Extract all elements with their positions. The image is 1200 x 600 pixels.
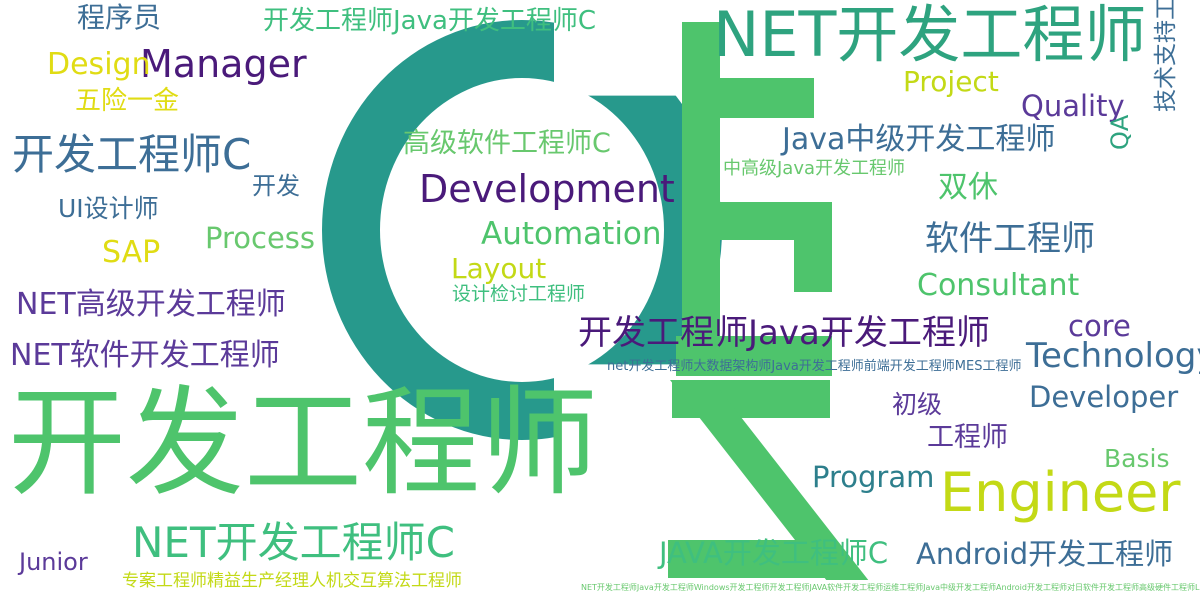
cloud-word: 技术支持工程师: [1155, 0, 1178, 112]
cloud-word: 开发工程师: [8, 384, 598, 502]
cloud-word: Android开发工程师: [916, 540, 1173, 569]
cloud-word: Development: [419, 170, 675, 208]
cloud-word: Project: [903, 68, 999, 96]
cloud-word: net开发工程师大数据架构师Java开发工程师前端开发工程师MES工程师: [607, 360, 1021, 373]
cloud-word: 开发: [252, 174, 300, 198]
cloud-word: Program: [812, 463, 934, 492]
cloud-word: QA: [1108, 115, 1132, 150]
cloud-word: 设计检讨工程师: [452, 285, 585, 304]
word-cloud-canvas: 开发工程师NET开发工程师EngineerDevelopment开发工程师CNE…: [0, 0, 1200, 600]
cloud-word: Manager: [140, 45, 307, 83]
cloud-word: 中高级Java开发工程师: [723, 160, 905, 178]
cloud-word: NET开发工程师Java开发工程师Windows开发工程师开发工程师JAVA软件…: [581, 584, 1200, 592]
cloud-word: 高级软件工程师C: [403, 130, 611, 157]
cloud-word: 开发工程师Java开发工程师: [578, 316, 990, 350]
cloud-word: NET开发工程师: [713, 4, 1146, 66]
cloud-word: 程序员: [77, 4, 161, 32]
cloud-word: core: [1068, 312, 1131, 341]
cloud-word: 软件工程师: [925, 222, 1095, 256]
cloud-word: Java中级开发工程师: [782, 125, 1055, 155]
cloud-word: SAP: [102, 238, 160, 268]
cloud-word: 开发工程师C: [12, 134, 251, 176]
cloud-word: 初级: [892, 392, 942, 417]
cloud-word: Automation: [481, 219, 662, 250]
cloud-word: NET高级开发工程师: [16, 290, 286, 320]
cloud-word: JAVA开发工程师C: [659, 539, 888, 568]
cloud-word: Consultant: [917, 271, 1079, 301]
cloud-word: Layout: [451, 255, 546, 283]
cloud-word: 五险一金: [75, 88, 179, 114]
cloud-word: Process: [205, 224, 315, 253]
cloud-word: Junior: [19, 550, 88, 574]
cloud-word: UI设计师: [58, 196, 159, 221]
cloud-word: NET软件开发工程师: [10, 341, 280, 371]
cloud-word: Design: [47, 50, 151, 80]
cloud-word: 工程师: [927, 424, 1008, 451]
cloud-word: 专案工程师精益生产经理人机交互算法工程师: [122, 573, 462, 590]
cloud-word: Technology: [1026, 339, 1200, 373]
cloud-word: 开发工程师Java开发工程师C: [263, 8, 596, 34]
cloud-word: Basis: [1104, 446, 1169, 471]
cloud-word: Developer: [1029, 383, 1178, 412]
cloud-word: NET开发工程师C: [132, 522, 455, 564]
cloud-word: Engineer: [940, 466, 1181, 520]
cloud-word: 双休: [938, 173, 998, 203]
